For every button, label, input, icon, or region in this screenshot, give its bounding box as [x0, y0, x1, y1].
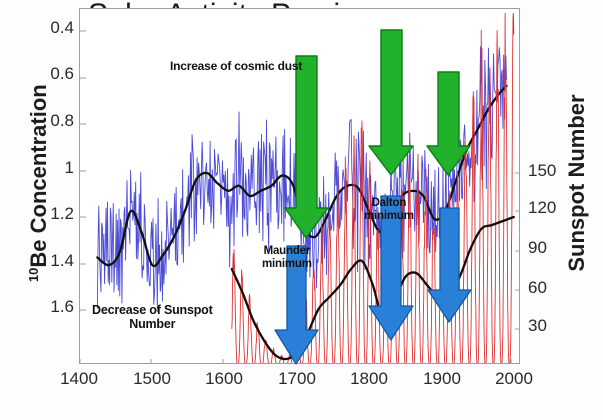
ytick-left-1: 1 — [14, 158, 74, 178]
ytick-left-0.8: 0.8 — [14, 111, 74, 131]
annotation-dalton-line2: minimum — [364, 210, 414, 223]
ytick-left-1.6: 1.6 — [14, 297, 74, 317]
ytick-left-0.4: 0.4 — [14, 18, 74, 38]
be10-series-line — [97, 46, 506, 312]
ytick-left-1.2: 1.2 — [14, 204, 74, 224]
annotation-decrease-line1: Decrease of Sunspot — [92, 303, 213, 317]
ytick-right-120: 120 — [528, 198, 578, 218]
right-axis-title: Sunspot Number — [564, 58, 590, 308]
ytick-right-60: 60 — [528, 278, 578, 298]
annotation-increase-of-cosmic-dust: Increase of cosmic dust — [170, 60, 302, 74]
ytick-left-0.6: 0.6 — [14, 64, 74, 84]
xtick-1500: 1500 — [122, 369, 182, 389]
ytick-right-30: 30 — [528, 316, 578, 336]
annotation-dalton-line1: Dalton — [364, 197, 414, 210]
annotation-maunder-minimum: Maunder minimum — [262, 245, 312, 271]
annotation-maunder-line1: Maunder — [262, 245, 312, 258]
cropped-caption-strip — [0, 400, 603, 420]
xtick-1400: 1400 — [49, 369, 109, 389]
solar-activity-proxies-figure: Solar Activity Proxies 10Be Concentratio… — [0, 0, 603, 420]
annotation-decrease-line2: Number — [92, 317, 213, 331]
xtick-1800: 1800 — [339, 369, 399, 389]
xtick-2000: 2000 — [484, 369, 544, 389]
xtick-1600: 1600 — [194, 369, 254, 389]
xtick-1900: 1900 — [412, 369, 472, 389]
ytick-left-1.4: 1.4 — [14, 251, 74, 271]
ytick-right-150: 150 — [528, 161, 578, 181]
ytick-right-90: 90 — [528, 238, 578, 258]
cropped-caption-text — [112, 400, 115, 408]
annotation-dalton-minimum: Dalton minimum — [364, 197, 414, 223]
annotation-decrease-of-sunspot-number: Decrease of Sunspot Number — [92, 303, 213, 332]
xtick-1700: 1700 — [267, 369, 327, 389]
annotation-maunder-line2: minimum — [262, 258, 312, 271]
